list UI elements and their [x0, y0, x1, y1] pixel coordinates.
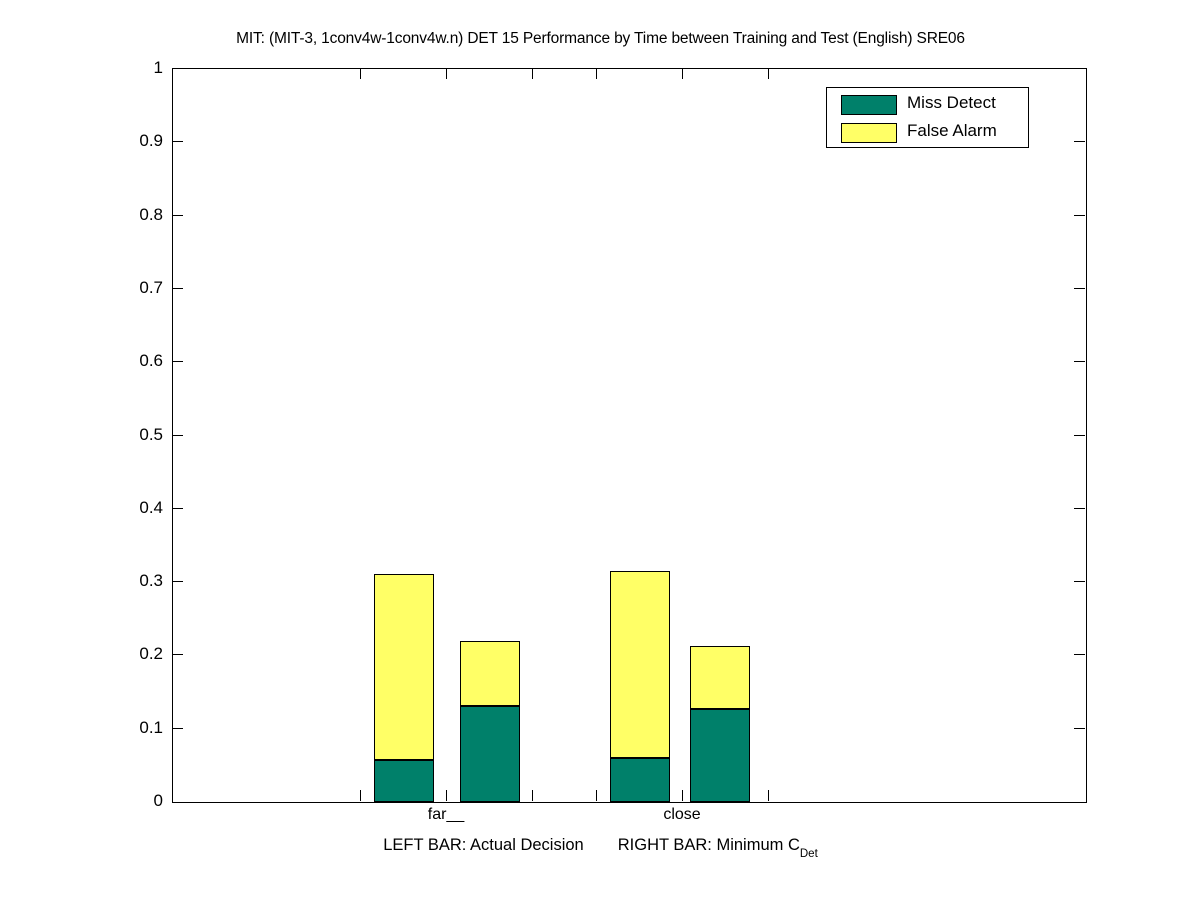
bar-segment-miss-detect [690, 709, 750, 802]
bottom-caption: LEFT BAR: Actual DecisionRIGHT BAR: Mini… [0, 836, 1201, 857]
y-axis-tick-label: 0.5 [0, 425, 172, 445]
y-axis-tick-label: 0.8 [0, 205, 172, 225]
x-axis-tick [682, 68, 683, 79]
legend-label-miss-detect: Miss Detect [907, 93, 996, 113]
y-axis-tick [172, 654, 183, 655]
y-axis-tick [1074, 508, 1085, 509]
legend-swatch-false-alarm [841, 123, 897, 143]
bar-stack [460, 641, 520, 802]
y-axis-tick [1074, 435, 1085, 436]
y-axis-tick-label: 0.6 [0, 351, 172, 371]
x-axis-tick [768, 68, 769, 79]
bar-segment-miss-detect [374, 760, 434, 802]
y-axis-tick-label: 1 [0, 58, 172, 78]
x-axis-category-label: close [663, 806, 700, 824]
x-axis-tick [596, 68, 597, 79]
y-axis-tick [1074, 728, 1085, 729]
y-axis-tick [172, 581, 183, 582]
y-axis-tick-label: 0.4 [0, 498, 172, 518]
y-axis-tick [1074, 361, 1085, 362]
caption-right-bar: RIGHT BAR: Minimum C [618, 836, 800, 854]
bars-layer [173, 69, 1086, 802]
plot-area [172, 68, 1087, 803]
y-axis-tick [172, 141, 183, 142]
x-axis-tick [532, 790, 533, 801]
legend-swatch-miss-detect [841, 95, 897, 115]
y-axis-tick [172, 508, 183, 509]
caption-right-bar-subscript: Det [800, 848, 818, 860]
x-axis-tick [360, 68, 361, 79]
bar-segment-miss-detect [460, 706, 520, 802]
x-axis-category-label: far__ [428, 806, 464, 824]
x-axis-tick [360, 790, 361, 801]
bar-segment-miss-detect [610, 758, 670, 802]
caption-left-bar: LEFT BAR: Actual Decision [383, 836, 584, 854]
legend-item-miss-detect: Miss Detect [827, 91, 1028, 117]
bar-segment-false-alarm [460, 641, 520, 706]
legend-item-false-alarm: False Alarm [827, 119, 1028, 145]
bar-stack [690, 646, 750, 802]
y-axis-tick-label: 0.9 [0, 131, 172, 151]
y-axis-tick [172, 361, 183, 362]
y-axis-tick [1074, 288, 1085, 289]
y-axis-tick [1074, 654, 1085, 655]
x-axis-tick [768, 790, 769, 801]
y-axis-tick [172, 728, 183, 729]
y-axis-tick-label: 0.1 [0, 718, 172, 738]
x-axis-tick [446, 68, 447, 79]
y-axis-tick [172, 288, 183, 289]
y-axis-tick [1074, 215, 1085, 216]
y-axis-tick-label: 0.7 [0, 278, 172, 298]
bar-segment-false-alarm [690, 646, 750, 709]
y-axis-tick-label: 0 [0, 791, 172, 811]
figure-canvas: MIT: (MIT-3, 1conv4w-1conv4w.n) DET 15 P… [0, 0, 1201, 900]
x-axis-tick [596, 790, 597, 801]
x-axis-tick [532, 68, 533, 79]
bar-stack [374, 574, 434, 802]
x-axis-tick [682, 790, 683, 801]
legend-label-false-alarm: False Alarm [907, 121, 997, 141]
page-title: MIT: (MIT-3, 1conv4w-1conv4w.n) DET 15 P… [0, 30, 1201, 48]
bar-stack [610, 571, 670, 802]
x-axis-tick [446, 790, 447, 801]
y-axis-tick [1074, 141, 1085, 142]
y-axis-tick [1074, 581, 1085, 582]
y-axis-tick-label: 0.2 [0, 644, 172, 664]
bar-segment-false-alarm [374, 574, 434, 760]
y-axis-tick-label: 0.3 [0, 571, 172, 591]
bar-segment-false-alarm [610, 571, 670, 758]
y-axis-tick [172, 435, 183, 436]
y-axis-tick [172, 215, 183, 216]
legend: Miss Detect False Alarm [826, 87, 1029, 148]
